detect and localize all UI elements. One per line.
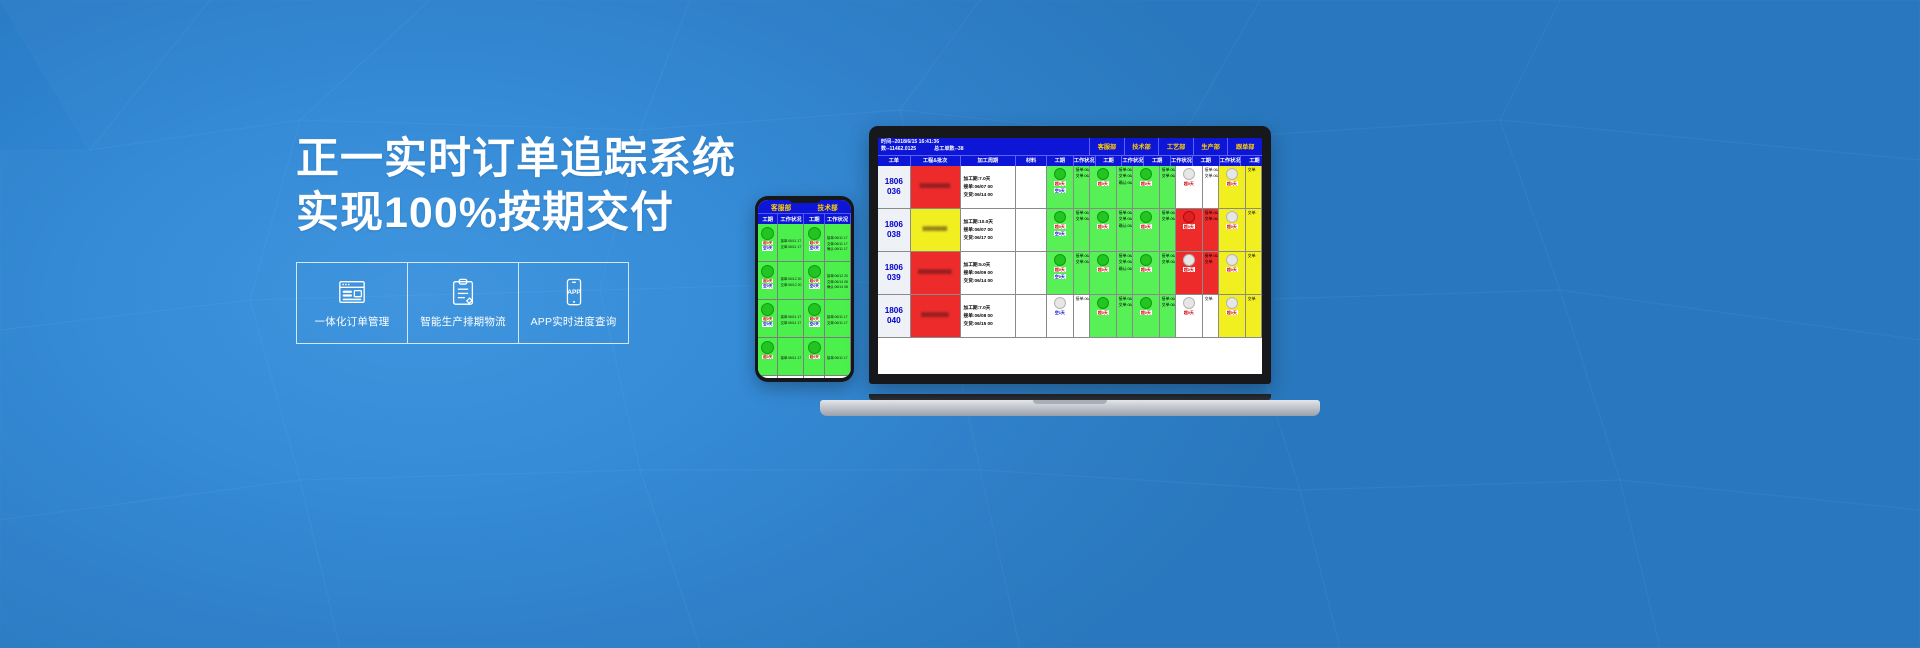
status-dot <box>1140 297 1152 309</box>
status-line: 交单:06/11 17 <box>778 321 803 326</box>
status-badge: 超0天 <box>762 279 773 283</box>
status-dot <box>1226 254 1238 266</box>
feature-list: 一体化订单管理 智能生产排期物流 APP APP实时进度查询 <box>296 262 629 344</box>
status-line: 交单: <box>1247 211 1257 217</box>
status-badge: 超0天 <box>1183 181 1195 186</box>
system-count: 数--11462.0125 <box>881 146 916 153</box>
work-status-cell: 接单:06/12 09交单: <box>1203 252 1219 294</box>
phone-cell: 接单:06/11 17交单:06/11 17 <box>778 224 803 262</box>
term-cell: 超0天 <box>1176 252 1203 294</box>
status-line: 接单:06/12 20 <box>1075 211 1090 217</box>
laptop-screen: 时间--2018/6/15 16:41:36 数--11462.0125 总工单… <box>878 138 1262 374</box>
term-cell: 超0天 <box>1133 252 1160 294</box>
status-line: 确认:06/11 17 <box>1118 181 1133 187</box>
status-line: 交单: <box>1247 254 1257 260</box>
work-status-cell: 交单: <box>1246 295 1262 337</box>
status-line: 交单:06/11 17 <box>1118 303 1133 309</box>
status-dot <box>1140 254 1152 266</box>
work-status-cell: 接单:06/11 17交单:06/11 17确认:06/11 17 <box>1117 252 1133 294</box>
term-cell: 超0天 <box>1219 252 1246 294</box>
work-status-cell: 接单:06/11 17交单:06/11 17 <box>1117 295 1133 337</box>
status-badge: 超0天 <box>1054 224 1066 229</box>
status-dot <box>1183 254 1195 266</box>
feature-item-production-scheduling[interactable]: 智能生产排期物流 <box>407 262 518 344</box>
table-column-header: 工单工程&批次加工周期材料工期工作状况工期工作状况工期工作状况工期工作状况工期工… <box>878 155 1262 166</box>
project-batch-cell: ▉▉▉▉▉▉▉▉▉▉▉ <box>911 252 961 294</box>
status-line: 接单:06/11 17 <box>1118 297 1133 303</box>
status-badge: 超0天 <box>1054 181 1066 186</box>
department-header-row: 客服部技术部工艺部生产部跟单部 <box>1089 138 1262 155</box>
term-cell: 超0天 <box>1219 166 1246 208</box>
status-line: 确认:06/11 17 <box>1118 267 1133 273</box>
status-badge: 空0天 <box>1054 274 1066 279</box>
status-badge: 超0天 <box>1226 181 1238 186</box>
status-dot <box>761 341 774 354</box>
total-orders: 总工单数--38 <box>934 146 963 153</box>
term-cell: 超0天空0天 <box>1047 252 1074 294</box>
material-cell <box>1016 252 1047 294</box>
work-status-cell: 交单: <box>1246 209 1262 251</box>
work-status-cell: 交单: <box>1246 252 1262 294</box>
column-header: 工作状况 <box>1074 156 1096 166</box>
term-cell: 超0天 <box>1176 166 1203 208</box>
status-line: 交单:06/11 17 <box>1161 174 1176 180</box>
status-line: 交单:06/11 17 <box>1118 174 1133 180</box>
status-badge: 空0天 <box>762 322 773 326</box>
phone-column-body: 接单:06/11 17交单:06/11 17接单:06/12 20交单:06/1… <box>778 224 804 378</box>
column-header: 加工周期 <box>961 156 1017 166</box>
clipboard-icon <box>448 277 478 307</box>
order-tracking-table: 时间--2018/6/15 16:41:36 数--11462.0125 总工单… <box>878 138 1262 338</box>
status-line: 接单:06/11 17 <box>1075 168 1090 174</box>
status-badge: 超0天 <box>1140 310 1152 315</box>
status-line: 接单:06/11 17 <box>1161 168 1176 174</box>
status-dot <box>1097 254 1109 266</box>
table-top-bar: 时间--2018/6/15 16:41:36 数--11462.0125 总工单… <box>878 138 1262 155</box>
table-row[interactable]: 1806040▉▉▉▉▉▉▉▉▉加工期:7.0天接单:06/08 00交货:06… <box>878 295 1262 338</box>
status-badge: 空0天 <box>809 246 820 250</box>
status-line: 接单:06/14 08 <box>1161 211 1176 217</box>
status-badge: 超0天 <box>1226 267 1238 272</box>
status-dot <box>1097 168 1109 180</box>
svg-text:APP: APP <box>567 289 581 296</box>
status-line: 接单:06/11 17 <box>1161 254 1176 260</box>
column-header: 工期 <box>1096 156 1123 166</box>
status-badge: 空0天 <box>809 322 820 326</box>
work-order-cell: 1806036 <box>878 166 911 208</box>
status-badge: 超0天 <box>1183 310 1195 315</box>
status-line: 接单:06/11 17 <box>1204 168 1219 174</box>
status-badge: 空0天 <box>762 284 773 288</box>
work-status-cell: 接单:06/11 17交单:06/11 17 <box>1160 295 1176 337</box>
project-batch-cell: ▉▉▉▉▉▉▉▉▉ <box>911 295 961 337</box>
table-row[interactable]: 1806038▉▉▉▉▉▉▉▉加工期:10.0天接单:06/07 00交货:06… <box>878 209 1262 252</box>
term-cell: 超0天 <box>1219 209 1246 251</box>
work-status-cell: 接单:06/11 17交单:06/11 17 <box>1160 252 1176 294</box>
work-status-cell: 接单:06/14 08交单:06/14 08 <box>1160 209 1176 251</box>
status-badge: 超0天 <box>809 355 820 359</box>
material-cell <box>1016 295 1047 337</box>
status-badge: 超0天 <box>1183 224 1195 229</box>
status-dot <box>1183 297 1195 309</box>
status-line: 交单: <box>1247 297 1257 303</box>
status-badge: 空0天 <box>1054 231 1066 236</box>
phone-column-body: 超0天空0天超0天空0天超0天空0天超0天 <box>758 224 778 378</box>
status-line: 交单:06/11 17 <box>778 245 803 250</box>
column-header: 工作状况 <box>1171 156 1193 166</box>
term-cell: 超0天空0天 <box>1047 166 1074 208</box>
status-line: 接单:06/12 09 <box>1204 254 1219 260</box>
status-badge: 超0天 <box>1054 267 1066 272</box>
work-status-cell: 接单:06/11 17交单:06/11 17 <box>1160 166 1176 208</box>
status-line: 接单:06/12 20 <box>778 277 803 282</box>
work-status-cell: 接单:06/12 20交单:06/12 20 <box>1074 209 1090 251</box>
dashboard-icon <box>337 277 367 307</box>
processing-cycle-cell: 加工期:5.0天接单:06/09 00交货:06/14 00 <box>961 252 1017 294</box>
status-dot <box>1054 168 1066 180</box>
status-badge: 超0天 <box>809 279 820 283</box>
work-status-cell: 接单:06/12 20交单:06/14 08确认:06/14 08 <box>1117 209 1133 251</box>
term-cell: 超0天 <box>1133 295 1160 337</box>
column-header: 工期 <box>1241 156 1262 166</box>
status-line: 接单:06/11 17 <box>1161 297 1176 303</box>
department-header: 客服部 <box>1089 138 1124 155</box>
column-header: 材料 <box>1016 156 1047 166</box>
term-cell: 超0天 <box>1176 295 1203 337</box>
status-line: 交单:06/13 10 <box>1204 174 1219 180</box>
status-line: 交单: <box>1204 297 1214 303</box>
term-cell: 超0天 <box>1090 209 1117 251</box>
status-dot <box>1140 168 1152 180</box>
term-cell: 超0天 <box>1090 295 1117 337</box>
column-header: 工期 <box>1047 156 1074 166</box>
column-header: 工单 <box>878 156 911 166</box>
status-dot <box>1097 211 1109 223</box>
work-status-cell: 接单:06/11 17交单:06/11 17 <box>1074 252 1090 294</box>
term-cell: 超0天 <box>1133 166 1160 208</box>
status-line: 交单:06/12 20 <box>1075 217 1090 223</box>
work-order-cell: 1806038 <box>878 209 911 251</box>
status-line: 交单: <box>1247 168 1257 174</box>
department-header: 生产部 <box>1193 138 1228 155</box>
status-badge: 空0天 <box>762 246 773 250</box>
status-line: 交单:06/12 20 <box>778 283 803 288</box>
mobile-app-icon: APP <box>559 277 589 307</box>
status-dot <box>1140 211 1152 223</box>
feature-label: APP实时进度查询 <box>531 314 617 329</box>
status-dot <box>1226 211 1238 223</box>
headline-line-1: 正一实时订单追踪系统 <box>296 132 716 186</box>
phone-column: 工期 <box>758 214 778 224</box>
term-cell: 超0天 <box>1133 209 1160 251</box>
term-cell: 超0天 <box>1219 295 1246 337</box>
phone-column: 工作状况 <box>778 214 804 224</box>
term-cell: 超0天 <box>1176 209 1203 251</box>
work-status-cell: 接单:06/14 08交单:06/14 14 <box>1203 209 1219 251</box>
table-meta: 时间--2018/6/15 16:41:36 数--11462.0125 总工单… <box>878 138 1089 155</box>
work-status-cell: 交单: <box>1246 166 1262 208</box>
column-header: 工期 <box>1144 156 1171 166</box>
phone-notch <box>788 197 821 203</box>
status-line: 交单:06/14 14 <box>1204 217 1219 223</box>
hero-copy: 正一实时订单追踪系统 实现100%按期交付 <box>296 132 716 240</box>
status-line: 交单: <box>1204 260 1214 266</box>
table-body[interactable]: 1806036▉▉▉▉▉▉▉▉▉▉加工期:7.0天接单:06/07 00交货:0… <box>878 166 1262 338</box>
status-dot <box>808 227 821 240</box>
term-cell: 超0天 <box>1090 252 1117 294</box>
status-line: 接单:06/12 20 <box>1118 211 1133 217</box>
department-header: 技术部 <box>1124 138 1159 155</box>
feature-label: 一体化订单管理 <box>315 314 390 329</box>
status-dot <box>1054 211 1066 223</box>
work-status-cell: 接单:06/11 17 <box>1074 295 1090 337</box>
status-dot <box>1054 254 1066 266</box>
status-line: 交单:06/11 17 <box>1161 303 1176 309</box>
phone-cell: 超0天空0天 <box>758 300 777 338</box>
status-badge: 超0天 <box>1097 310 1109 315</box>
status-dot <box>808 303 821 316</box>
work-order-cell: 1806040 <box>878 295 911 337</box>
status-line: 交单:06/11 17 <box>1161 260 1176 266</box>
processing-cycle-cell: 加工期:7.0天接单:06/07 00交货:06/14 00 <box>961 166 1017 208</box>
status-badge: 超0天 <box>1097 181 1109 186</box>
feature-item-order-management[interactable]: 一体化订单管理 <box>296 262 407 344</box>
department-header: 工艺部 <box>1158 138 1193 155</box>
status-badge: 超0天 <box>1140 181 1152 186</box>
status-dot <box>808 265 821 278</box>
status-line: 接单:06/14 08 <box>1204 211 1219 217</box>
feature-item-app-progress[interactable]: APP APP实时进度查询 <box>518 262 629 344</box>
phone-cell: 超0天空0天 <box>758 262 777 300</box>
work-status-cell: 接单:06/11 17交单:06/11 17确认:06/11 17 <box>1117 166 1133 208</box>
work-order-cell: 1806039 <box>878 252 911 294</box>
status-line: 接单:06/11 17 <box>1075 297 1090 303</box>
status-badge: 超0天 <box>1097 267 1109 272</box>
status-badge: 超0天 <box>809 317 820 321</box>
material-cell <box>1016 166 1047 208</box>
status-dot <box>761 227 774 240</box>
status-dot <box>1226 168 1238 180</box>
table-row[interactable]: 1806036▉▉▉▉▉▉▉▉▉▉加工期:7.0天接单:06/07 00交货:0… <box>878 166 1262 209</box>
status-line: 接单:06/11 17 <box>778 356 803 361</box>
status-badge: 超0天 <box>762 241 773 245</box>
table-row[interactable]: 1806039▉▉▉▉▉▉▉▉▉▉▉加工期:5.0天接单:06/09 00交货:… <box>878 252 1262 295</box>
status-line: 接单:06/11 17 <box>778 315 803 320</box>
status-badge: 超0天 <box>762 355 773 359</box>
status-line: 接单:06/11 17 <box>778 239 803 244</box>
status-badge: 超0天 <box>1226 310 1238 315</box>
status-dot <box>761 303 774 316</box>
laptop-base <box>820 400 1320 416</box>
processing-cycle-cell: 加工期:10.0天接单:06/07 00交货:06/17 00 <box>961 209 1017 251</box>
processing-cycle-cell: 加工期:7.0天接单:06/08 00交货:06/15 00 <box>961 295 1017 337</box>
term-cell: 超0天 <box>1090 166 1117 208</box>
phone-cell: 接单:06/12 20交单:06/12 20 <box>778 262 803 300</box>
department-header: 跟单部 <box>1227 138 1262 155</box>
laptop-lid: 时间--2018/6/15 16:41:36 数--11462.0125 总工单… <box>869 126 1271 384</box>
status-line: 交单:06/14 08 <box>1161 217 1176 223</box>
project-batch-cell: ▉▉▉▉▉▉▉▉ <box>911 209 961 251</box>
status-line: 交单:06/11 17 <box>1118 260 1133 266</box>
work-status-cell: 交单: <box>1203 295 1219 337</box>
column-header: 工作状况 <box>1220 156 1242 166</box>
column-header: 工期 <box>1193 156 1220 166</box>
status-dot <box>761 265 774 278</box>
status-line: 确认:06/14 08 <box>1118 224 1133 230</box>
status-badge: 超0天 <box>809 241 820 245</box>
status-badge: 超0天 <box>1140 267 1152 272</box>
status-line: 交单:06/11 17 <box>1075 260 1090 266</box>
status-badge: 空0天 <box>809 284 820 288</box>
status-line: 接单:06/11 17 <box>1118 254 1133 260</box>
work-status-cell: 接单:06/11 17交单:06/11 17 <box>1074 166 1090 208</box>
column-header: 工作状况 <box>1122 156 1144 166</box>
phone-cell: 超0天空0天 <box>758 224 777 262</box>
phone-cell: 接单:06/11 17交单:06/11 17 <box>778 300 803 338</box>
term-cell: 超0天空0天 <box>1047 209 1074 251</box>
status-line: 交单:06/11 17 <box>1075 174 1090 180</box>
status-badge: 超0天 <box>1226 224 1238 229</box>
status-dot <box>1097 297 1109 309</box>
status-line: 接单:06/11 17 <box>1075 254 1090 260</box>
status-badge: 空0天 <box>1054 188 1066 193</box>
headline-line-2: 实现100%按期交付 <box>296 186 716 240</box>
status-dot <box>1183 211 1195 223</box>
status-dot <box>1183 168 1195 180</box>
project-batch-cell: ▉▉▉▉▉▉▉▉▉▉ <box>911 166 961 208</box>
status-line: 交单:06/14 08 <box>1118 217 1133 223</box>
status-badge: 超0天 <box>1097 224 1109 229</box>
phone-cell: 接单:06/11 17 <box>778 338 803 376</box>
status-badge: 空1天 <box>1054 310 1066 315</box>
status-dot <box>1226 297 1238 309</box>
work-status-cell: 接单:06/11 17交单:06/13 10 <box>1203 166 1219 208</box>
status-badge: 超0天 <box>1140 224 1152 229</box>
status-dot <box>1054 297 1066 309</box>
term-cell: 空1天 <box>1047 295 1074 337</box>
material-cell <box>1016 209 1047 251</box>
status-dot <box>808 341 821 354</box>
laptop-mockup: 时间--2018/6/15 16:41:36 数--11462.0125 总工单… <box>820 126 1320 416</box>
phone-cell: 超0天 <box>758 338 777 376</box>
status-badge: 超0天 <box>762 317 773 321</box>
feature-label: 智能生产排期物流 <box>420 314 506 329</box>
column-header: 工程&批次 <box>911 156 961 166</box>
status-line: 接单:06/11 17 <box>1118 168 1133 174</box>
status-badge: 超0天 <box>1183 267 1195 272</box>
